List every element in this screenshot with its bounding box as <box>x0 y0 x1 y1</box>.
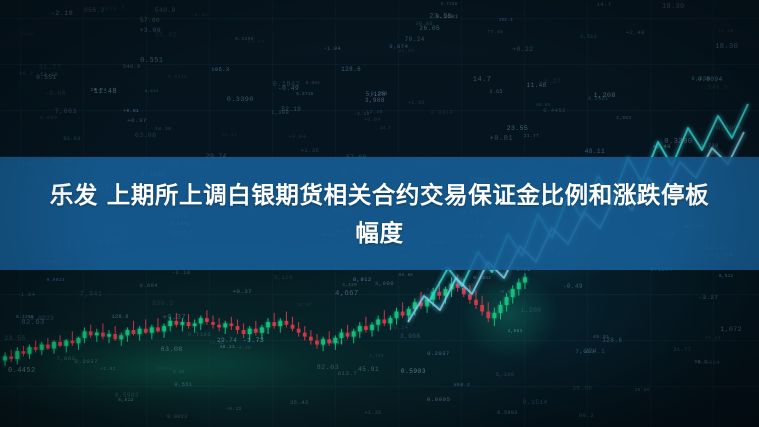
candle-body <box>193 323 197 326</box>
candle-body <box>395 312 399 319</box>
candle-body <box>505 297 509 305</box>
candle-body <box>58 342 62 346</box>
candle-body <box>217 325 221 328</box>
candle-body <box>462 288 466 295</box>
candle-body <box>168 321 172 326</box>
candle-group <box>3 273 527 365</box>
candle-body <box>46 345 50 349</box>
candle-body <box>382 319 386 323</box>
candle-body <box>468 294 472 299</box>
candle-body <box>199 318 203 323</box>
candle-body <box>95 333 99 336</box>
candle-body <box>364 326 368 330</box>
candle-body <box>291 325 295 329</box>
candle-body <box>205 318 209 322</box>
headline-line-2: 幅度 <box>355 214 403 252</box>
candle-body <box>388 318 392 323</box>
headline-line-1: 乐发 上期所上调白银期货相关合约交易保证金比例和涨跌停板 <box>50 176 709 214</box>
candle-body <box>370 325 374 330</box>
candle-body <box>64 341 68 346</box>
candle-body <box>150 327 154 332</box>
candle-body <box>229 323 233 326</box>
candle-body <box>523 277 527 282</box>
candle-body <box>113 334 117 339</box>
headline-band: 乐发 上期所上调白银期货相关合约交易保证金比例和涨跌停板 幅度 <box>0 157 759 270</box>
candle-body <box>285 321 289 325</box>
candle-body <box>492 313 496 318</box>
candle-body <box>407 309 411 316</box>
candle-body <box>303 333 307 337</box>
candle-body <box>352 331 356 336</box>
candle-body <box>242 330 246 334</box>
candle-body <box>278 321 282 326</box>
candle-body <box>132 330 136 334</box>
candle-body <box>52 342 56 349</box>
candle-body <box>315 341 319 345</box>
candle-body <box>437 292 441 296</box>
candle-body <box>70 341 74 344</box>
candle-body <box>15 351 19 359</box>
candle-body <box>107 334 111 337</box>
candle-body <box>162 326 166 331</box>
candle-body <box>236 326 240 330</box>
candle-body <box>511 289 515 297</box>
candle-body <box>297 329 301 333</box>
candle-body <box>333 338 337 343</box>
candle-body <box>3 356 7 360</box>
candle-body <box>119 335 123 339</box>
candle-body <box>77 338 81 343</box>
candle-body <box>340 333 344 338</box>
candle-body <box>254 329 258 333</box>
candle-body <box>499 305 503 313</box>
candle-body <box>187 322 191 326</box>
candle-body <box>517 283 521 290</box>
candle-body <box>456 284 460 288</box>
candle-body <box>125 330 129 335</box>
candle-body <box>309 337 313 341</box>
candle-body <box>223 323 227 327</box>
candle-body <box>181 322 185 325</box>
candle-body <box>474 300 478 305</box>
candle-body <box>211 322 215 325</box>
candle-body <box>358 326 362 331</box>
news-banner: 0.184223.551,208+0.37-1.048,9120.002314.… <box>0 0 759 427</box>
candle-body <box>89 331 93 335</box>
candle-body <box>401 312 405 316</box>
candle-body <box>156 327 160 331</box>
candle-body <box>376 319 380 324</box>
candle-body <box>83 331 87 338</box>
candle-body <box>346 333 350 337</box>
candle-body <box>480 305 484 312</box>
candle-body <box>28 347 32 354</box>
candle-body <box>22 351 26 354</box>
candle-body <box>248 329 252 334</box>
candle-body <box>486 312 490 319</box>
candle-body <box>174 321 178 325</box>
candle-body <box>266 322 270 327</box>
candle-body <box>260 327 264 332</box>
candle-body <box>40 345 44 350</box>
candle-body <box>327 339 331 343</box>
candle-body <box>144 329 148 333</box>
candle-body <box>138 329 142 334</box>
candle-body <box>321 339 325 344</box>
candle-body <box>101 333 105 337</box>
candle-body <box>9 356 13 359</box>
candle-body <box>34 347 38 350</box>
candle-body <box>272 322 276 326</box>
